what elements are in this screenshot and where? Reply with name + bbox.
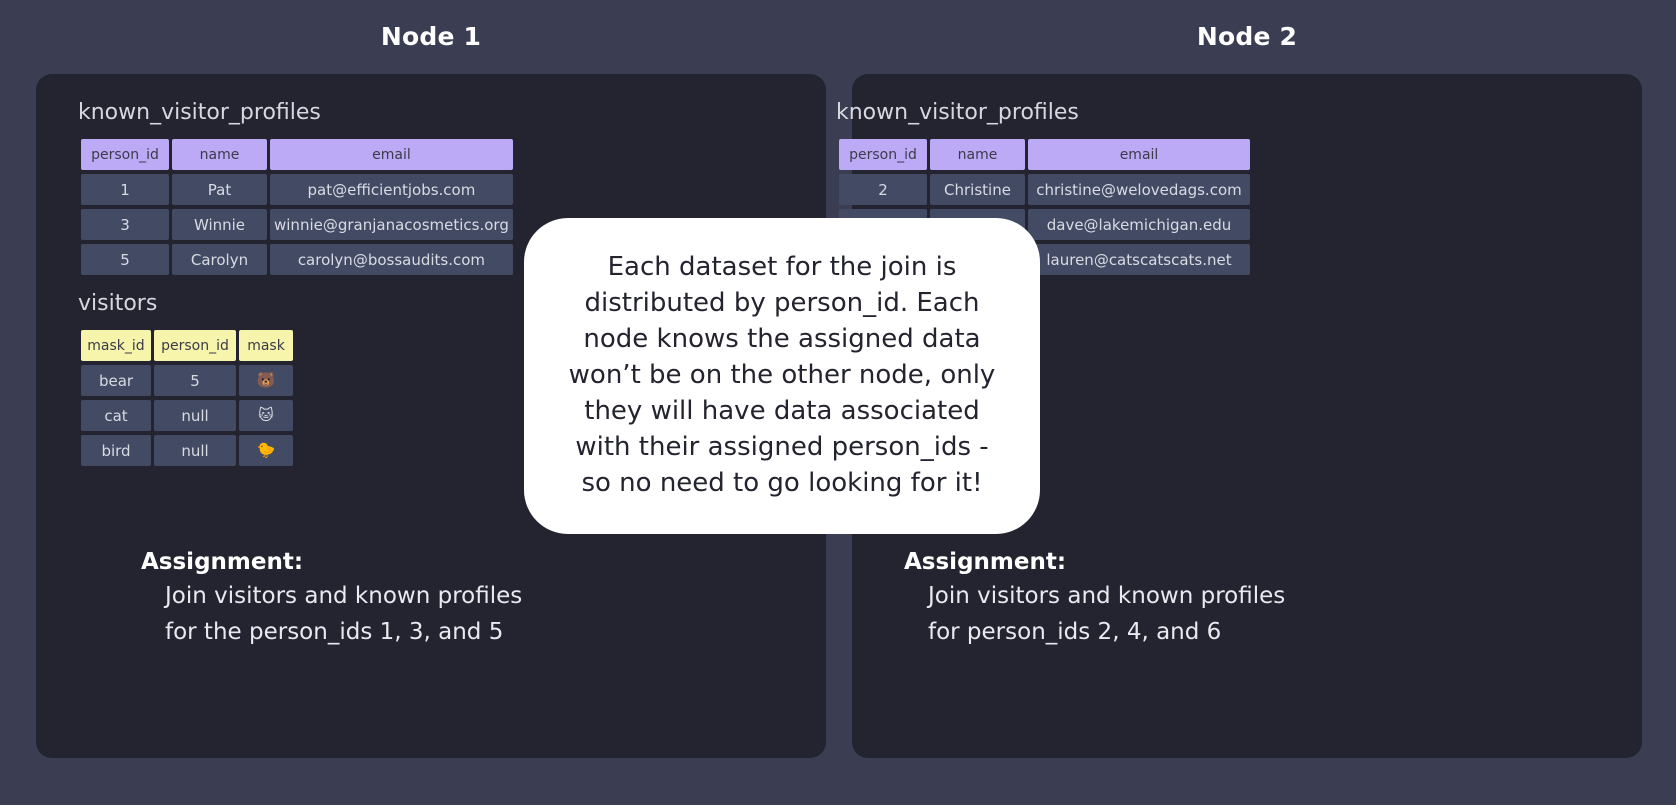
table-row: bird null 🐤 <box>81 435 293 466</box>
assignment-line: for the person_ids 1, 3, and 5 <box>165 615 522 651</box>
cell-email: carolyn@bossaudits.com <box>270 244 513 275</box>
assignment-line: Join visitors and known profiles <box>165 579 522 615</box>
column-header-name: name <box>930 139 1025 170</box>
column-header-person-id: person_id <box>154 330 236 361</box>
known-visitor-profiles-table: person_id name email 1 Pat pat@efficient… <box>78 135 516 279</box>
table-row: 1 Pat pat@efficientjobs.com <box>81 174 513 205</box>
visitors-table: mask_id person_id mask bear 5 🐻 cat null… <box>78 326 296 470</box>
cell-mask-id: bird <box>81 435 151 466</box>
table-header-row: person_id name email <box>81 139 513 170</box>
column-header-email: email <box>1028 139 1250 170</box>
cell-name: Christine <box>930 174 1025 205</box>
assignment-line: for person_ids 2, 4, and 6 <box>928 615 1285 651</box>
cell-person-id: null <box>154 435 236 466</box>
table-row: 5 Carolyn carolyn@bossaudits.com <box>81 244 513 275</box>
table-header-row: mask_id person_id mask <box>81 330 293 361</box>
node-1-assignment: Assignment: Join visitors and known prof… <box>141 549 522 651</box>
cell-mask-id: cat <box>81 400 151 431</box>
bear-face-icon: 🐻 <box>239 365 293 396</box>
cell-name: Pat <box>172 174 267 205</box>
cell-email: dave@lakemichigan.edu <box>1028 209 1250 240</box>
node-1-visitors-table-block: visitors mask_id person_id mask bear 5 🐻… <box>78 291 296 470</box>
column-header-person-id: person_id <box>81 139 169 170</box>
assignment-label: Assignment: <box>141 549 522 575</box>
cell-email: pat@efficientjobs.com <box>270 174 513 205</box>
table-caption-visitors: visitors <box>78 291 296 316</box>
node-2-title: Node 2 <box>852 22 1642 51</box>
cell-email: winnie@granjanacosmetics.org <box>270 209 513 240</box>
cell-email: lauren@catscatscats.net <box>1028 244 1250 275</box>
table-row: 3 Winnie winnie@granjanacosmetics.org <box>81 209 513 240</box>
baby-chick-icon: 🐤 <box>239 435 293 466</box>
table-caption-known-visitor-profiles: known_visitor_profiles <box>836 100 1253 125</box>
cell-person-id: 1 <box>81 174 169 205</box>
table-caption-known-visitor-profiles: known_visitor_profiles <box>78 100 516 125</box>
cell-mask-id: bear <box>81 365 151 396</box>
table-header-row: person_id name email <box>839 139 1250 170</box>
cell-person-id: 2 <box>839 174 927 205</box>
column-header-mask-id: mask_id <box>81 330 151 361</box>
table-row: 2 Christine christine@welovedags.com <box>839 174 1250 205</box>
node-2-assignment: Assignment: Join visitors and known prof… <box>904 549 1285 651</box>
cell-person-id: 5 <box>81 244 169 275</box>
column-header-email: email <box>270 139 513 170</box>
cell-name: Winnie <box>172 209 267 240</box>
cat-face-icon: 🐱 <box>239 400 293 431</box>
callout-bubble: Each dataset for the join is distributed… <box>524 218 1040 534</box>
cell-name: Carolyn <box>172 244 267 275</box>
table-row: bear 5 🐻 <box>81 365 293 396</box>
node-1-known-visitor-profiles-table-block: known_visitor_profiles person_id name em… <box>78 100 516 279</box>
node-1-title: Node 1 <box>36 22 826 51</box>
cell-email: christine@welovedags.com <box>1028 174 1250 205</box>
assignment-label: Assignment: <box>904 549 1285 575</box>
column-header-mask: mask <box>239 330 293 361</box>
callout-text: Each dataset for the join is distributed… <box>562 250 1002 501</box>
column-header-name: name <box>172 139 267 170</box>
table-row: cat null 🐱 <box>81 400 293 431</box>
assignment-line: Join visitors and known profiles <box>928 579 1285 615</box>
column-header-person-id: person_id <box>839 139 927 170</box>
cell-person-id: null <box>154 400 236 431</box>
cell-person-id: 5 <box>154 365 236 396</box>
cell-person-id: 3 <box>81 209 169 240</box>
